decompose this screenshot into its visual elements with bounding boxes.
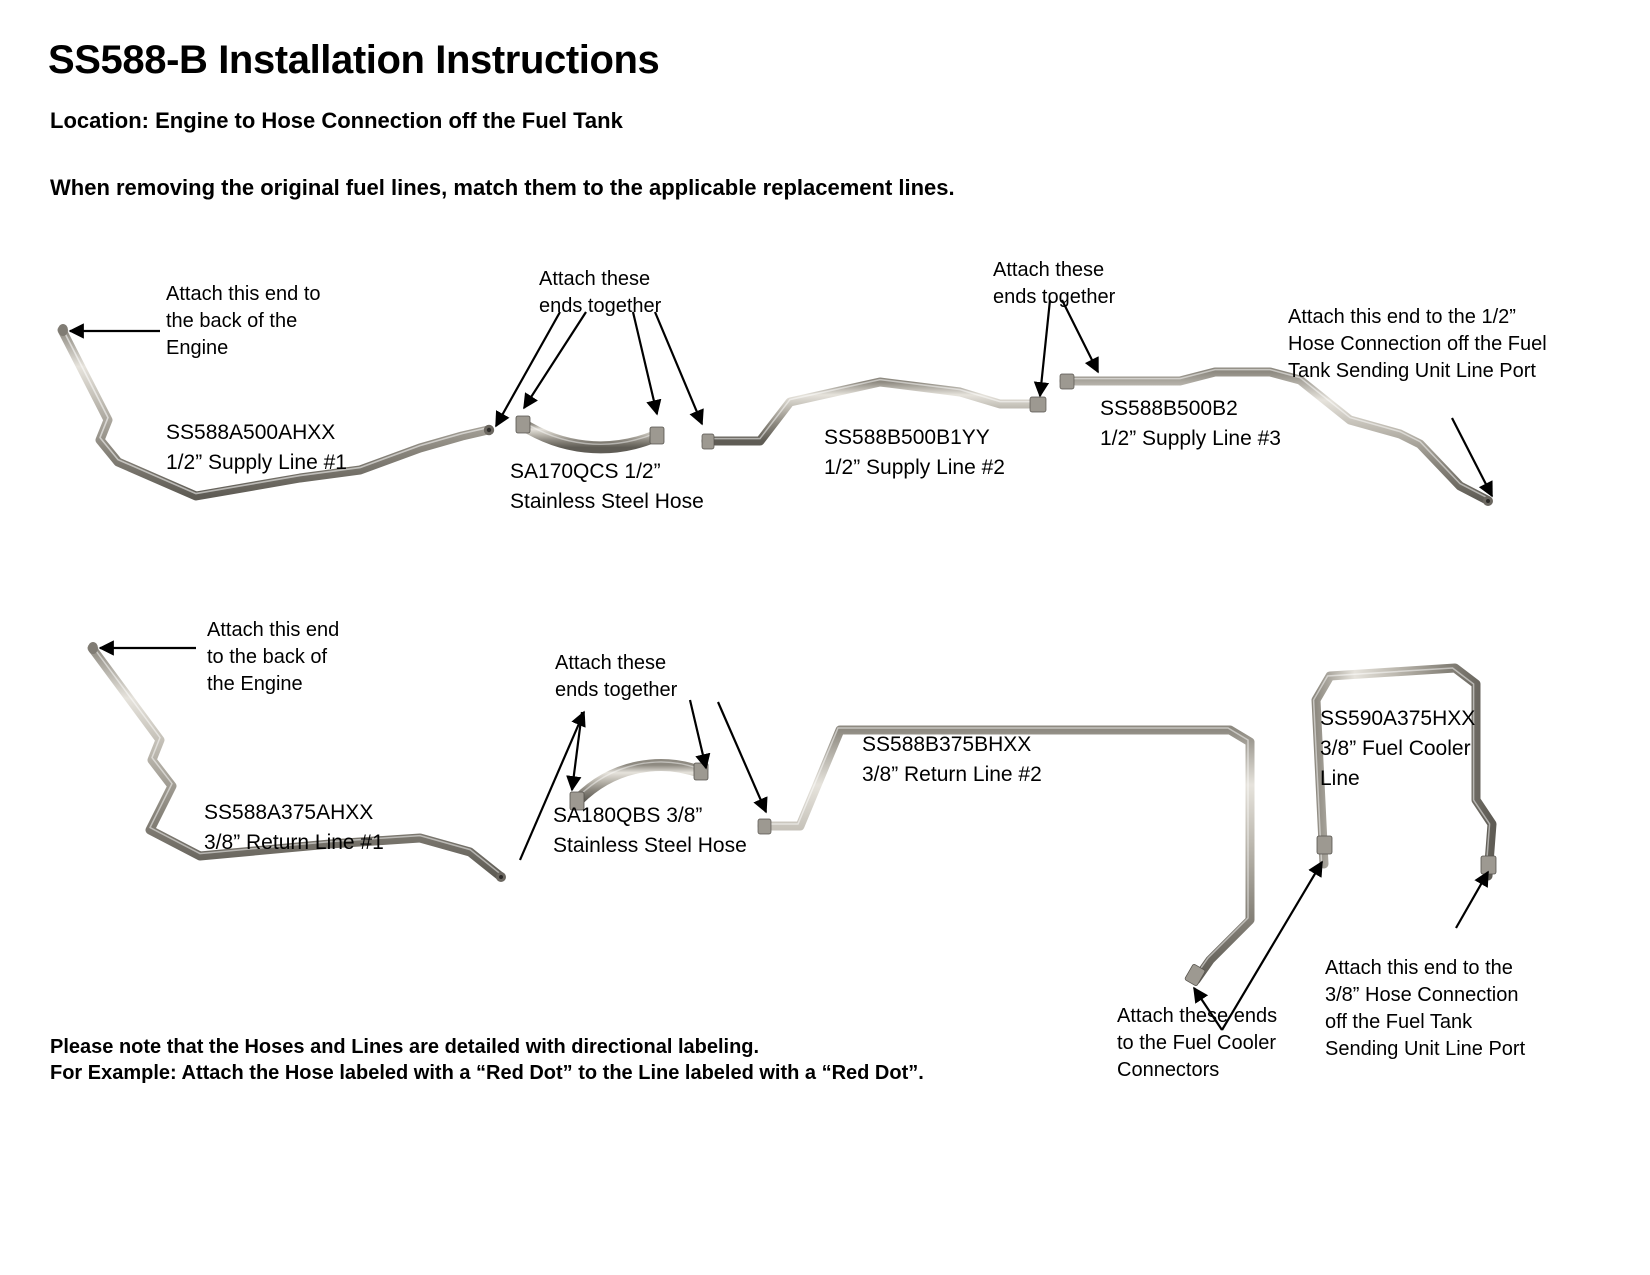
part-sa170qcs	[516, 416, 664, 447]
note-bottom-engine-end: Attach this end to the back of the Engin…	[207, 617, 339, 698]
label-ss590a375hxx: SS590A375HXX 3/8” Fuel Cooler Line	[1320, 704, 1475, 794]
label-ss588a500ahxx: SS588A500AHXX 1/2” Supply Line #1	[166, 418, 347, 478]
arrow-bottom-hose-left-b	[572, 712, 582, 790]
note-top-hose-ends-right: Attach these ends together	[993, 257, 1115, 311]
arrow-top-mid-left	[1040, 300, 1050, 396]
arrow-bottom-hose-right-b	[718, 702, 766, 812]
instruction-line: When removing the original fuel lines, m…	[50, 175, 955, 201]
label-ss588b500b1yy: SS588B500B1YY 1/2” Supply Line #2	[824, 423, 1005, 483]
label-sa170qcs: SA170QCS 1/2” Stainless Steel Hose	[510, 457, 704, 517]
arrow-top-hose-right-b	[655, 312, 702, 424]
note-top-tank-end: Attach this end to the 1/2” Hose Connect…	[1288, 304, 1547, 385]
location-line: Location: Engine to Hose Connection off …	[50, 108, 623, 134]
note-top-engine-end: Attach this end to the back of the Engin…	[166, 281, 321, 362]
page-title: SS588-B Installation Instructions	[48, 38, 659, 83]
arrow-bottom-tank-end	[1456, 872, 1488, 928]
label-ss588a375ahxx: SS588A375AHXX 3/8” Return Line #1	[204, 798, 384, 858]
label-sa180qbs: SA180QBS 3/8” Stainless Steel Hose	[553, 801, 747, 861]
arrow-bottom-hose-right-a	[690, 700, 706, 768]
note-top-hose-ends-left: Attach these ends together	[539, 266, 661, 320]
note-bottom-cooler-ends: Attach these ends to the Fuel Cooler Con…	[1117, 1003, 1277, 1084]
arrow-top-hose-left-a	[496, 312, 560, 426]
arrow-top-hose-right-a	[633, 312, 657, 414]
footer-note-line-1: Please note that the Hoses and Lines are…	[50, 1036, 759, 1059]
note-bottom-hose-ends: Attach these ends together	[555, 650, 677, 704]
note-bottom-tank-end: Attach this end to the 3/8” Hose Connect…	[1325, 955, 1525, 1063]
arrow-top-hose-left-b	[524, 312, 586, 408]
label-ss588b500b2: SS588B500B2 1/2” Supply Line #3	[1100, 394, 1281, 454]
arrow-top-tank-end	[1452, 418, 1492, 496]
footer-note-line-2: For Example: Attach the Hose labeled wit…	[50, 1062, 924, 1085]
installation-instructions-page: SS588-B Installation Instructions Locati…	[0, 0, 1650, 1275]
label-ss588b375bhxx: SS588B375BHXX 3/8” Return Line #2	[862, 730, 1042, 790]
